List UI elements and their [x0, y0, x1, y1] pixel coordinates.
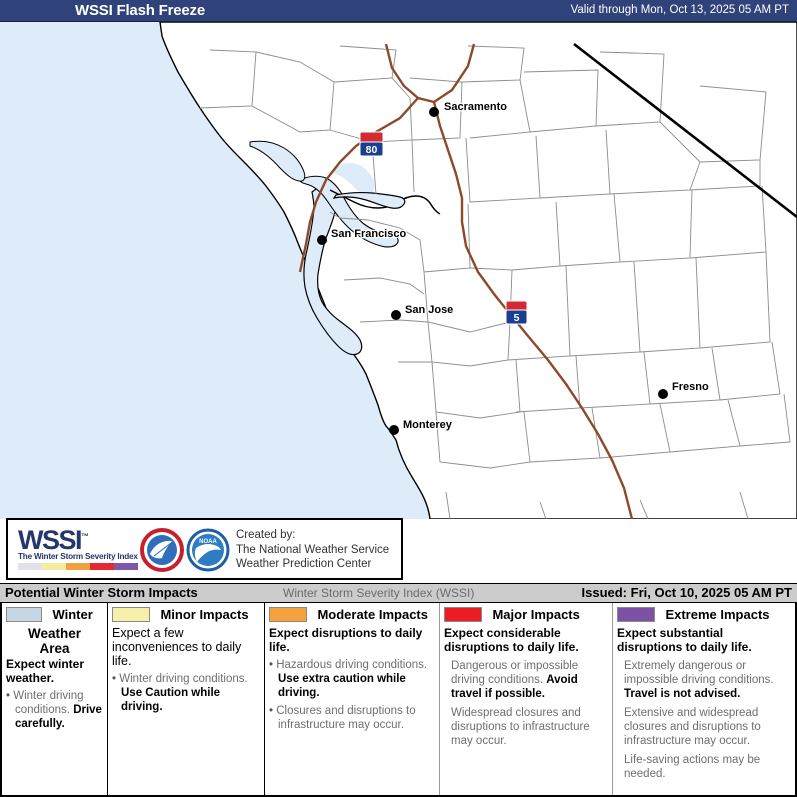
city-dot-san-jose: [391, 310, 401, 320]
legend-lead-minor-impacts: Expect a few inconveniences to daily lif…: [112, 626, 260, 668]
legend-title-minor-impacts: Minor Impacts: [160, 607, 248, 622]
city-dot-san-francisco: [317, 235, 327, 245]
legend-item-text-pre: Extremely dangerous or impossible drivin…: [624, 660, 774, 686]
swatch-row-winter-weather-area: Winter: [6, 606, 103, 624]
city-label-san-jose: San Jose: [405, 304, 453, 316]
city-label-fresno: Fresno: [672, 381, 709, 393]
legend-column-extreme-impacts[interactable]: Extreme Impacts Expect substantial disru…: [612, 603, 795, 795]
legend-item-winter-weather-area-0: • Winter driving conditions. Drive caref…: [6, 689, 103, 731]
created-by-line-1: Created by:: [236, 528, 389, 543]
legend-item-text-pre: Widespread closures and disruptions to i…: [451, 707, 590, 747]
legend-item-major-impacts-0: Dangerous or impossible driving conditio…: [444, 659, 608, 701]
swatch-major-impacts: [444, 607, 482, 622]
city-label-monterey: Monterey: [403, 419, 453, 431]
colorbar-seg-moderate: [66, 563, 90, 570]
legend-lead-winter-weather-area: Expect winter weather.: [6, 657, 103, 685]
shield-i80: 80: [360, 132, 383, 156]
legend-header-subtitle: Winter Storm Severity Index (WSSI): [283, 586, 474, 600]
issued-text: Issued: Fri, Oct 10, 2025 05 AM PT: [582, 585, 793, 600]
legend-item-text-bold: Use Caution while driving.: [121, 687, 220, 713]
legend-item-extreme-impacts-0: Extremely dangerous or impossible drivin…: [617, 659, 791, 701]
swatch-moderate-impacts: [269, 607, 307, 622]
valid-through-text: Valid through Mon, Oct 13, 2025 05 AM PT: [571, 4, 789, 16]
colorbar-seg-minor: [42, 563, 66, 570]
noaa-seal-icon: NOAA: [188, 530, 228, 570]
swatch-row-extreme-impacts: Extreme Impacts: [617, 606, 791, 624]
legend-header-bar: Potential Winter Storm Impacts Winter St…: [0, 584, 797, 603]
city-dot-fresno: [658, 389, 668, 399]
legend-item-moderate-impacts-0: • Hazardous driving conditions. Use extr…: [269, 658, 435, 700]
legend-title-line2: Weather: [6, 626, 103, 641]
legend-item-extreme-impacts-2: Life-saving actions may be needed.: [617, 753, 791, 781]
colorbar-seg-extreme: [114, 563, 138, 570]
legend-title-winter-weather-area: Winter: [52, 607, 92, 622]
trademark-glyph: ™: [81, 532, 88, 541]
legend-header-title: Potential Winter Storm Impacts: [5, 585, 198, 600]
created-by-line-2: The National Weather Service: [236, 543, 389, 558]
created-by-line-3: Weather Prediction Center: [236, 557, 389, 572]
credit-panel: WSSI™ The Winter Storm Severity Index: [6, 518, 403, 580]
legend-title-extreme-impacts: Extreme Impacts: [665, 607, 769, 622]
legend-item-extreme-impacts-1: Extensive and widespread closures and di…: [617, 706, 791, 748]
legend-columns: Winter Weather Area Expect winter weathe…: [0, 603, 797, 797]
legend-column-winter-weather-area[interactable]: Winter Weather Area Expect winter weathe…: [2, 603, 107, 795]
swatch-row-moderate-impacts: Moderate Impacts: [269, 606, 435, 624]
wssi-logo: WSSI™ The Winter Storm Severity Index: [18, 524, 138, 570]
wssi-map-page: WSSI Flash Freeze Valid through Mon, Oct…: [0, 0, 797, 797]
nws-seal-icon: [142, 530, 182, 570]
legend-item-text-pre: Winter driving conditions.: [119, 673, 247, 685]
legend-lead-extreme-impacts: Expect substantial disruptions to daily …: [617, 626, 791, 654]
legend-item-major-impacts-1: Widespread closures and disruptions to i…: [444, 706, 608, 748]
svg-text:5: 5: [514, 312, 520, 324]
legend-item-text-pre: Extensive and widespread closures and di…: [624, 707, 761, 747]
swatch-winter-weather-area: [6, 607, 42, 622]
wssi-severity-colorbar: [18, 563, 138, 570]
colorbar-seg-major: [90, 563, 114, 570]
shield-i5: 5: [506, 301, 527, 324]
legend-lead-major-impacts: Expect considerable disruptions to daily…: [444, 626, 608, 654]
title-bar: WSSI Flash Freeze Valid through Mon, Oct…: [0, 0, 797, 22]
svg-text:NOAA: NOAA: [199, 539, 217, 545]
legend-item-text-pre: Closures and disruptions to infrastructu…: [276, 705, 415, 731]
legend-item-text-bold: Travel is not advised.: [624, 688, 740, 700]
page-title: WSSI Flash Freeze: [75, 2, 205, 19]
swatch-row-minor-impacts: Minor Impacts: [112, 606, 260, 624]
map-svg: 80 5 Sacramento San Francisco San Jose M…: [0, 22, 797, 519]
city-label-san-francisco: San Francisco: [331, 228, 406, 240]
legend-item-text-pre: Life-saving actions may be needed.: [624, 754, 760, 780]
legend-title-moderate-impacts: Moderate Impacts: [317, 607, 428, 622]
legend-item-moderate-impacts-1: • Closures and disruptions to infrastruc…: [269, 704, 435, 732]
swatch-minor-impacts: [112, 607, 150, 622]
svg-text:80: 80: [366, 144, 378, 156]
legend-column-major-impacts[interactable]: Major Impacts Expect considerable disrup…: [439, 603, 612, 795]
city-dot-monterey: [389, 425, 399, 435]
legend-column-minor-impacts[interactable]: Minor Impacts Expect a few inconvenience…: [107, 603, 264, 795]
legend-item-text-bold: Use extra caution while driving.: [278, 673, 406, 699]
created-by-block: Created by: The National Weather Service…: [236, 528, 389, 572]
legend-title-line3: Area: [6, 641, 103, 656]
legend-lead-moderate-impacts: Expect disruptions to daily life.: [269, 626, 435, 654]
colorbar-seg-none: [18, 563, 42, 570]
swatch-row-major-impacts: Major Impacts: [444, 606, 608, 624]
city-label-sacramento: Sacramento: [444, 101, 507, 113]
agency-seals: NOAA: [140, 526, 230, 574]
legend-column-moderate-impacts[interactable]: Moderate Impacts Expect disruptions to d…: [264, 603, 439, 795]
impacts-legend: Potential Winter Storm Impacts Winter St…: [0, 583, 797, 797]
wssi-tagline: The Winter Storm Severity Index: [18, 552, 138, 561]
legend-title-major-impacts: Major Impacts: [492, 607, 579, 622]
wssi-wordmark-text: WSSI: [18, 525, 81, 555]
legend-item-minor-impacts-0: • Winter driving conditions. Use Caution…: [112, 672, 260, 714]
wssi-wordmark: WSSI™: [18, 524, 138, 553]
city-dot-sacramento: [429, 107, 439, 117]
map-canvas[interactable]: 80 5 Sacramento San Francisco San Jose M…: [0, 22, 797, 519]
legend-item-text-pre: Hazardous driving conditions.: [276, 659, 427, 671]
swatch-extreme-impacts: [617, 607, 655, 622]
